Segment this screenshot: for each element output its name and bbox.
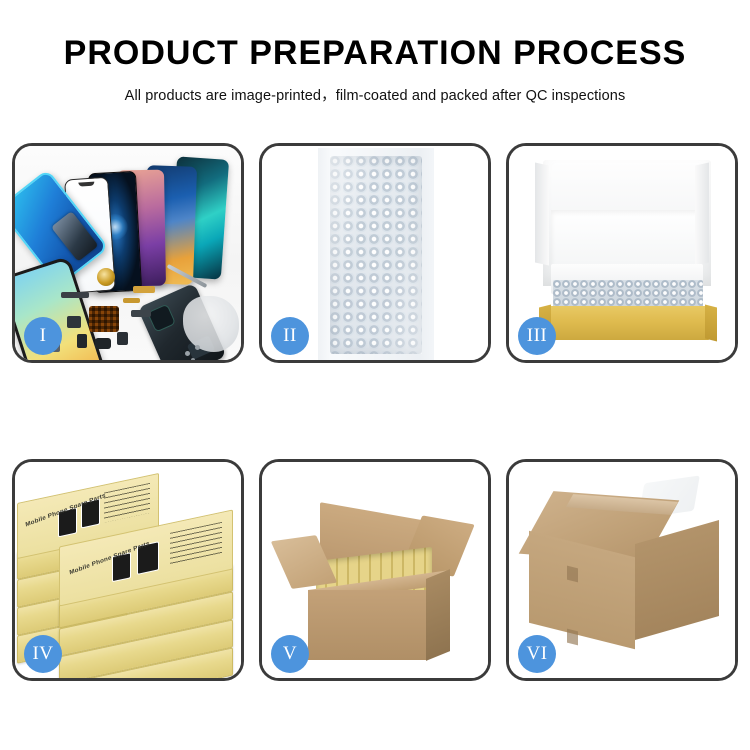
page-subtitle: All products are image-printed，film-coat… [0,70,750,105]
step-badge-1: I [24,317,62,355]
process-step-grid: I II III [12,143,738,681]
step-badge-3: III [518,317,556,355]
step-badge-6: VI [518,635,556,673]
box-spec-text-lines-2 [170,522,222,565]
screw-2 [195,345,200,350]
carton-front-face [308,590,426,660]
step-panel-2[interactable]: II [259,143,491,363]
carton-seam-upper [567,566,578,583]
screw-1 [185,351,190,356]
carton-seam-lower [567,629,578,646]
small-part-1 [67,316,81,328]
step-badge-2: II [271,317,309,355]
connector-grid-part [89,306,119,332]
page-title: PRODUCT PREPARATION PROCESS [0,0,750,70]
box-front-kraft [545,306,711,340]
step-panel-6[interactable]: VI [506,459,738,681]
bubble-wrap-pouch [318,148,434,360]
carton-right-face [426,569,450,661]
step-badge-4: IV [24,635,62,673]
small-part-2 [77,334,87,348]
small-part-4 [117,332,128,345]
box-lid-flap-left [535,163,549,266]
step-panel-3[interactable]: III [506,143,738,363]
box-spec-text-lines-1 [104,483,150,523]
screw-3 [191,358,195,360]
speaker-coil-part [97,268,115,286]
page-header: PRODUCT PREPARATION PROCESS All products… [0,0,750,105]
plastic-sheen [330,156,422,354]
box-lid-flap-right [695,163,709,266]
step-panel-5[interactable]: V [259,459,491,681]
flex-cable-part-2 [133,286,155,293]
flex-cable-part-1 [61,292,89,298]
flex-cable-part-3 [123,298,140,303]
small-part-5 [131,310,151,317]
step-panel-4[interactable]: Mobile Phone Spare Parts Mobile Phone Sp… [12,459,244,681]
step-panel-1[interactable]: I [12,143,244,363]
small-part-3 [95,338,111,349]
step-badge-5: V [271,635,309,673]
